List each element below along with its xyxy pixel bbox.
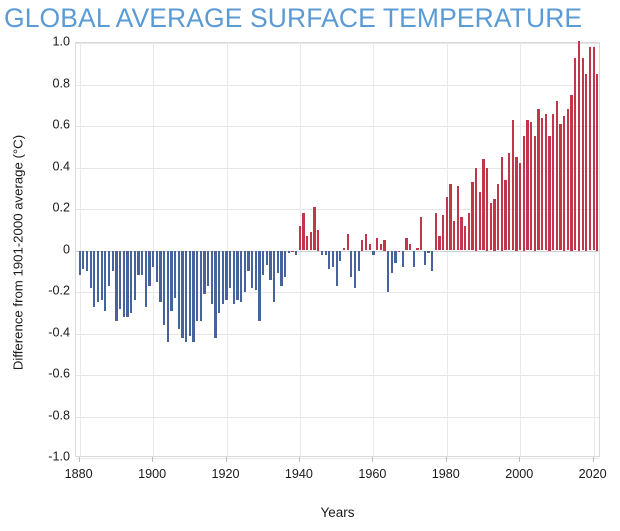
bar-1943	[310, 232, 312, 251]
bar-1997	[508, 153, 510, 251]
bar-1895	[134, 251, 136, 301]
bar-1949	[332, 251, 334, 268]
bar-1983	[457, 186, 459, 250]
bar-2005	[537, 109, 539, 250]
bar-1917	[214, 251, 216, 338]
x-tick-label: 1880	[65, 467, 93, 481]
bar-1982	[453, 221, 455, 250]
bar-1933	[273, 251, 275, 303]
bar-1939	[295, 251, 297, 255]
bar-1911	[192, 251, 194, 342]
bar-2019	[589, 47, 591, 250]
bar-1894	[130, 251, 132, 313]
bar-1992	[490, 203, 492, 251]
bar-1977	[435, 213, 437, 250]
bar-1989	[479, 192, 481, 250]
bar-1898	[145, 251, 147, 307]
y-tick-label: -0.2	[24, 285, 70, 298]
bar-1965	[391, 251, 393, 274]
bar-1970	[409, 244, 411, 250]
bar-1928	[255, 251, 257, 290]
bar-1881	[82, 251, 84, 270]
bar-1959	[369, 244, 371, 250]
bar-1975	[427, 251, 429, 253]
bar-2015	[574, 58, 576, 251]
bar-1921	[229, 251, 231, 288]
bar-1964	[387, 251, 389, 293]
bar-1987	[471, 182, 473, 250]
bar-2008	[548, 136, 550, 250]
bar-1972	[416, 248, 418, 250]
bar-1931	[266, 251, 268, 266]
bar-2010	[556, 101, 558, 250]
bar-1940	[299, 226, 301, 251]
bar-2014	[570, 95, 572, 251]
bar-2018	[585, 74, 587, 250]
chart-title: GLOBAL AVERAGE SURFACE TEMPERATURE	[4, 0, 616, 36]
bar-1979	[442, 215, 444, 250]
bar-1920	[225, 251, 227, 301]
bar-1915	[207, 251, 209, 286]
x-tick-label: 1940	[285, 467, 313, 481]
x-axis-tick-marks	[75, 457, 600, 463]
gridline-vertical	[80, 43, 81, 456]
bar-1880	[79, 251, 81, 276]
bar-1950	[336, 251, 338, 286]
bar-1904	[167, 251, 169, 342]
bar-1912	[196, 251, 198, 322]
bar-1956	[358, 251, 360, 272]
bar-2011	[559, 124, 561, 251]
chart-container: GLOBAL AVERAGE SURFACE TEMPERATURE Diffe…	[0, 0, 620, 531]
bar-1996	[504, 180, 506, 251]
y-tick-label: 1.0	[24, 36, 70, 49]
bar-1884	[93, 251, 95, 307]
bar-1960	[372, 251, 374, 255]
bar-1913	[200, 251, 202, 322]
x-tick-mark	[593, 457, 594, 462]
bar-1905	[170, 251, 172, 311]
bar-2004	[534, 136, 536, 250]
x-axis-tick-labels: 18801900192019401960198020002020	[75, 467, 600, 487]
bar-1980	[446, 197, 448, 251]
bar-1988	[475, 168, 477, 251]
bar-1897	[141, 251, 143, 276]
bar-2006	[541, 118, 543, 251]
gridline-vertical	[153, 43, 154, 456]
bar-1885	[97, 251, 99, 303]
bar-1969	[405, 238, 407, 250]
bar-1903	[163, 251, 165, 326]
bar-1925	[244, 251, 246, 293]
y-tick-label: 0.6	[24, 119, 70, 132]
bar-1941	[302, 213, 304, 250]
x-tick-mark	[372, 457, 373, 462]
bar-1947	[325, 251, 327, 255]
bar-1935	[280, 251, 282, 286]
bar-1963	[383, 240, 385, 250]
bar-1888	[108, 251, 110, 286]
bar-1955	[354, 251, 356, 288]
bar-1893	[126, 251, 128, 317]
bar-1926	[247, 251, 249, 272]
x-tick-label: 2020	[579, 467, 607, 481]
x-tick-label: 2000	[505, 467, 533, 481]
y-tick-label: -0.8	[24, 409, 70, 422]
bar-1882	[86, 251, 88, 272]
bar-1998	[512, 120, 514, 251]
bar-2012	[563, 116, 565, 251]
bar-2020	[593, 47, 595, 250]
bar-1916	[211, 251, 213, 305]
bar-1961	[376, 238, 378, 250]
bar-2002	[526, 120, 528, 251]
bar-2003	[530, 122, 532, 251]
bar-1986	[468, 213, 470, 250]
bar-1900	[152, 251, 154, 268]
bar-1976	[431, 251, 433, 272]
bar-1919	[222, 251, 224, 305]
bar-1995	[501, 157, 503, 250]
bar-2021	[596, 74, 598, 250]
bar-1892	[123, 251, 125, 317]
bar-1944	[313, 207, 315, 251]
bar-1908	[181, 251, 183, 338]
bar-1991	[486, 168, 488, 251]
bar-1889	[112, 251, 114, 272]
bar-1910	[189, 251, 191, 336]
bar-1957	[361, 240, 363, 250]
bar-1968	[402, 251, 404, 268]
x-tick-label: 1960	[358, 467, 386, 481]
bar-1932	[269, 251, 271, 280]
x-tick-mark	[79, 457, 80, 462]
bar-1906	[174, 251, 176, 299]
x-axis-title: Years	[75, 505, 600, 520]
x-tick-label: 1920	[212, 467, 240, 481]
bar-1934	[277, 251, 279, 274]
bar-2007	[545, 114, 547, 251]
bar-1923	[236, 251, 238, 301]
bar-1948	[328, 251, 330, 270]
bar-1883	[90, 251, 92, 288]
bar-1971	[413, 251, 415, 268]
bar-1978	[438, 236, 440, 251]
bar-1927	[251, 251, 253, 288]
bar-1887	[104, 251, 106, 311]
bar-1999	[515, 157, 517, 250]
bar-1936	[284, 251, 286, 278]
bar-2009	[552, 114, 554, 251]
bar-1951	[339, 251, 341, 261]
bar-1886	[101, 251, 103, 301]
y-axis-tick-labels: 1.00.80.60.40.20-0.2-0.4-0.6-0.8-1.0	[20, 42, 70, 457]
x-tick-mark	[446, 457, 447, 462]
bar-1984	[460, 217, 462, 250]
bar-1946	[321, 251, 323, 255]
y-tick-label: -0.4	[24, 326, 70, 339]
bar-1981	[449, 184, 451, 250]
y-tick-label: -1.0	[24, 451, 70, 464]
bar-1937	[288, 251, 290, 253]
bar-2001	[523, 136, 525, 250]
x-tick-mark	[299, 457, 300, 462]
bar-1953	[347, 234, 349, 251]
bar-1985	[464, 226, 466, 251]
x-tick-label: 1980	[432, 467, 460, 481]
bar-1924	[240, 251, 242, 303]
bar-1967	[398, 251, 400, 252]
bar-2013	[567, 109, 569, 250]
x-tick-label: 1900	[138, 467, 166, 481]
bar-1974	[424, 251, 426, 266]
x-tick-mark	[226, 457, 227, 462]
bar-1954	[350, 251, 352, 278]
bar-1952	[343, 248, 345, 250]
bar-1909	[185, 251, 187, 342]
bar-1962	[380, 244, 382, 250]
bar-1907	[178, 251, 180, 330]
bar-2000	[519, 163, 521, 250]
bar-1930	[262, 251, 264, 276]
bar-1938	[291, 251, 293, 252]
bar-2016	[578, 41, 580, 251]
bar-1929	[258, 251, 260, 322]
bar-1958	[365, 234, 367, 251]
x-tick-mark	[519, 457, 520, 462]
bar-1918	[218, 251, 220, 313]
y-tick-label: 0.8	[24, 77, 70, 90]
bar-1914	[203, 251, 205, 295]
y-tick-label: -0.6	[24, 368, 70, 381]
gridline-vertical	[227, 43, 228, 456]
bar-1993	[493, 199, 495, 251]
bar-1942	[306, 236, 308, 251]
bar-1899	[148, 251, 150, 286]
bar-1994	[497, 184, 499, 250]
bar-1990	[482, 159, 484, 250]
bar-1945	[317, 230, 319, 251]
bar-1922	[233, 251, 235, 305]
bar-2017	[582, 58, 584, 251]
plot-area	[75, 42, 600, 457]
bar-1973	[420, 217, 422, 250]
gridline-vertical	[373, 43, 374, 456]
x-tick-mark	[152, 457, 153, 462]
bar-1890	[115, 251, 117, 322]
bar-1966	[394, 251, 396, 263]
bar-1896	[137, 251, 139, 276]
bar-1901	[156, 251, 158, 282]
bar-1902	[159, 251, 161, 303]
bar-1891	[119, 251, 121, 309]
y-tick-label: 0.4	[24, 160, 70, 173]
y-tick-label: 0.2	[24, 202, 70, 215]
y-tick-label: 0	[24, 243, 70, 256]
